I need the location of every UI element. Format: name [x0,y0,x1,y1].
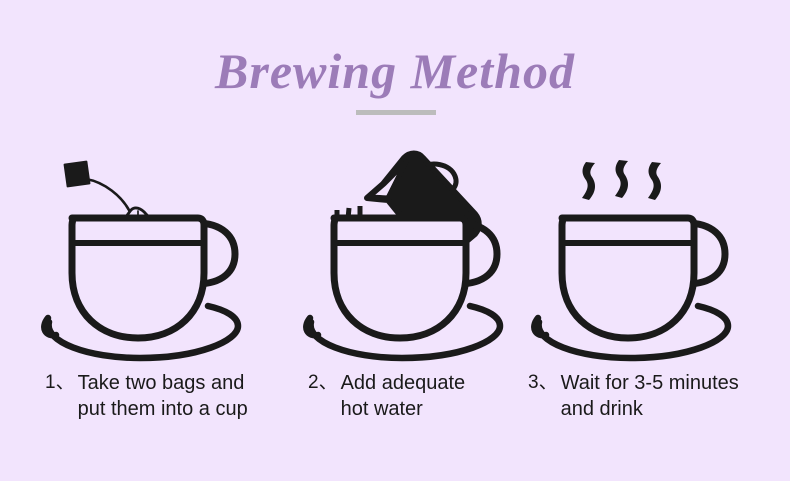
step-2-marker: 2、 [308,370,341,396]
step-1-marker: 1、 [45,370,78,396]
teabag-tag-icon [65,162,90,187]
step-2-line-2: hot water [341,396,466,422]
step-1-caption: 1、 Take two bags and put them into a cup [45,370,248,422]
step-3-text: Wait for 3-5 minutes and drink [561,370,739,422]
step-2-illustration [292,138,542,366]
step-1: 1、 Take two bags and put them into a cup [30,138,280,438]
step-1-line-1: Take two bags and [78,370,248,396]
step-2: 2、 Add adequate hot water [292,138,542,438]
step-2-line-1: Add adequate [341,370,466,396]
step-2-text: Add adequate hot water [341,370,466,422]
step-3-illustration [520,138,770,366]
steam-icon [582,160,661,200]
step-1-line-2: put them into a cup [78,396,248,422]
brewing-method-poster: Brewing Method [0,0,790,481]
step-1-illustration [30,138,280,366]
step-3-line-2: and drink [561,396,739,422]
teabag-string-icon [86,179,130,212]
tea-cup-icon [72,218,204,338]
step-3-caption: 3、 Wait for 3-5 minutes and drink [528,370,739,422]
step-2-caption: 2、 Add adequate hot water [308,370,465,422]
tea-cup-icon [334,218,466,338]
steps-row: 1、 Take two bags and put them into a cup [0,138,790,438]
title-divider [356,110,436,115]
step-3: 3、 Wait for 3-5 minutes and drink [520,138,770,438]
step-1-text: Take two bags and put them into a cup [78,370,248,422]
step-3-marker: 3、 [528,370,561,396]
tea-cup-icon [562,218,694,338]
step-3-line-1: Wait for 3-5 minutes [561,370,739,396]
page-title: Brewing Method [0,44,790,98]
title-block: Brewing Method [0,44,790,98]
